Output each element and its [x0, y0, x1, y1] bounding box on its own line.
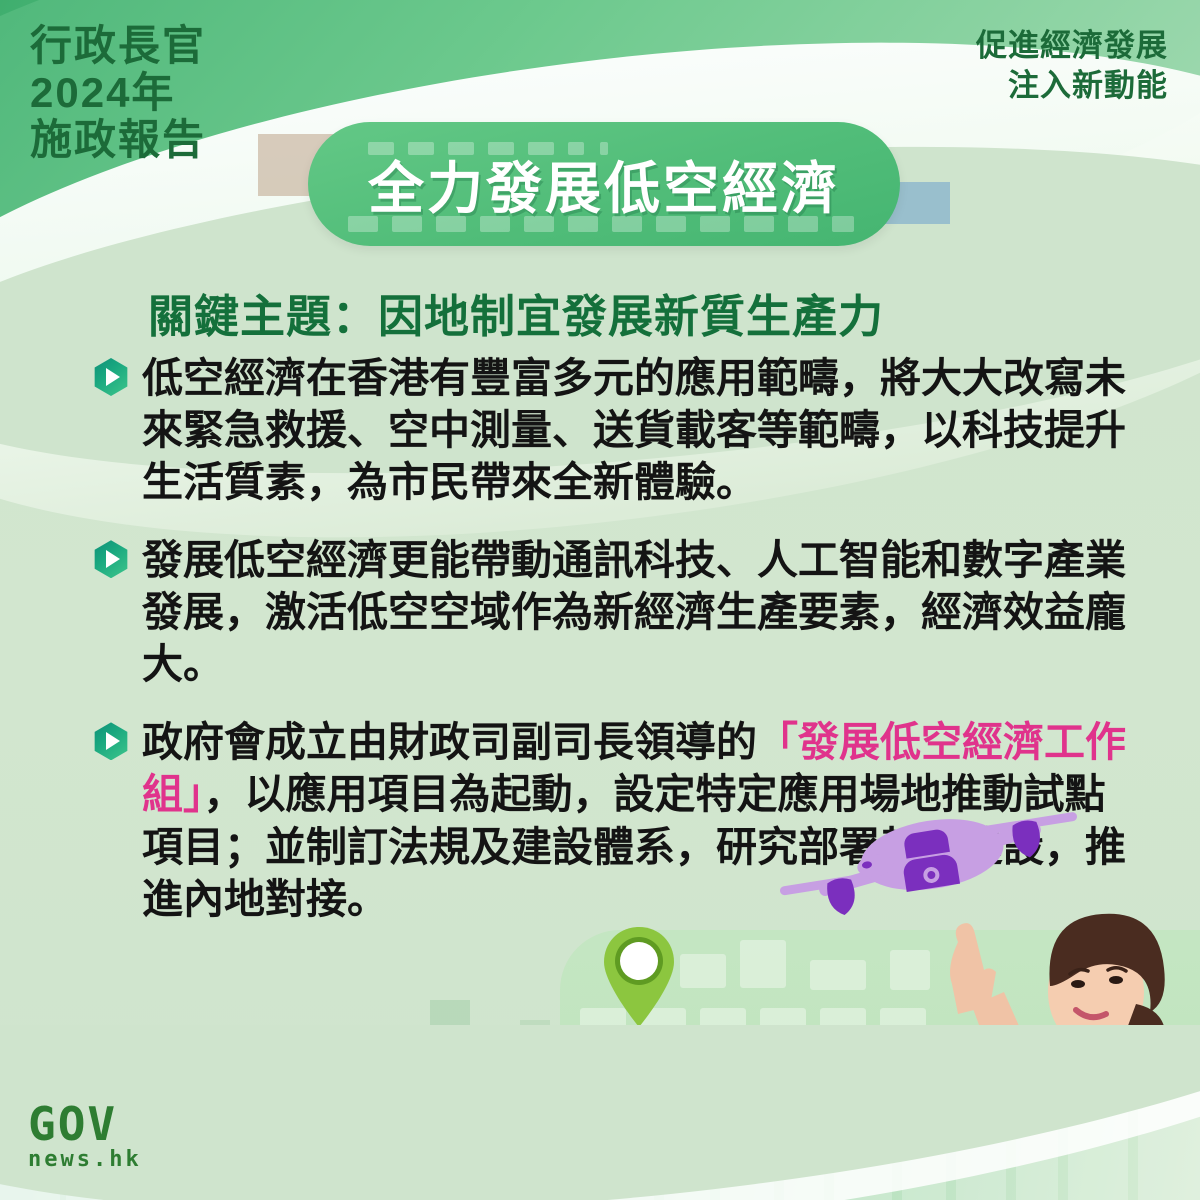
header-line-2: 2024年 [30, 69, 206, 116]
logo-gov-text: GOV [28, 1103, 142, 1147]
play-hexagon-icon [92, 540, 130, 578]
page-title: 全力發展低空經濟 [308, 122, 900, 246]
header-right-line-1: 促進經濟發展 [976, 26, 1168, 66]
logo-news-text: news.hk [28, 1147, 142, 1172]
footer-band [0, 1025, 1200, 1200]
bullet-text: 低空經濟在香港有豐富多元的應用範疇，將大大改寫未來緊急救援、空中測量、送貨載客等… [142, 352, 1152, 508]
bullet-text-before: 政府會成立由財政司副司長領導的 [142, 719, 757, 765]
list-item: 低空經濟在香港有豐富多元的應用範疇，將大大改寫未來緊急救援、空中測量、送貨載客等… [92, 352, 1152, 508]
title-pill: 全力發展低空經濟 [308, 122, 900, 246]
bullet-text: 發展低空經濟更能帶動通訊科技、人工智能和數字產業發展，激活低空空域作為新經濟生產… [142, 534, 1152, 690]
report-header-right: 促進經濟發展 注入新動能 [976, 26, 1168, 105]
header-line-1: 行政長官 [30, 22, 206, 69]
play-hexagon-icon [92, 722, 130, 760]
key-theme-subtitle: 關鍵主題：因地制宜發展新質生產力 [148, 280, 884, 345]
play-hexagon-icon [92, 358, 130, 396]
infographic-canvas: 行政長官 2024年 施政報告 促進經濟發展 注入新動能 全力發展低空經濟 關鍵… [0, 0, 1200, 1200]
report-header-left: 行政長官 2024年 施政報告 [30, 22, 206, 163]
gov-news-hk-logo[interactable]: GOV news.hk [28, 1103, 142, 1172]
header-right-line-2: 注入新動能 [976, 66, 1168, 106]
list-item: 發展低空經濟更能帶動通訊科技、人工智能和數字產業發展，激活低空空域作為新經濟生產… [92, 534, 1152, 690]
header-line-3: 施政報告 [30, 116, 206, 163]
